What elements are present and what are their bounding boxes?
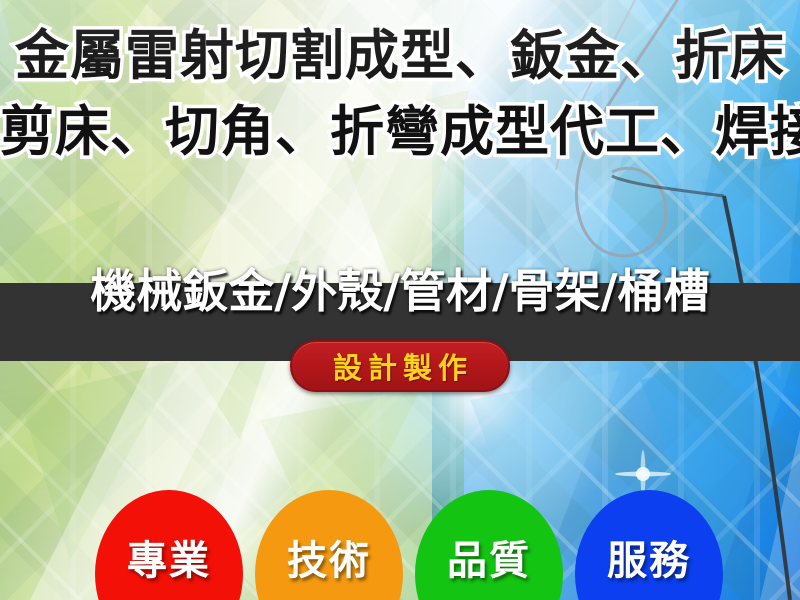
- feature-label-4: 服務: [607, 528, 691, 586]
- badge-label: 設計製作: [327, 345, 473, 387]
- headline-line-2: 剪床、切角、折彎成型代工、焊接: [0, 94, 800, 170]
- promo-banner: 金屬雷射切割成型、鈑金、折床 剪床、切角、折彎成型代工、焊接 機械鈑金/外殼/管…: [0, 0, 800, 600]
- feature-label-3: 品質: [447, 528, 531, 586]
- feature-circle-1[interactable]: 專業: [95, 490, 243, 600]
- design-manufacture-badge[interactable]: 設計製作: [290, 340, 510, 392]
- feature-circle-3[interactable]: 品質: [415, 490, 563, 600]
- feature-circle-4[interactable]: 服務: [575, 490, 723, 600]
- feature-circle-2[interactable]: 技術: [255, 490, 403, 600]
- headline-block: 金屬雷射切割成型、鈑金、折床 剪床、切角、折彎成型代工、焊接: [0, 18, 800, 170]
- feature-label-1: 專業: [127, 528, 211, 586]
- band-text: 機械鈑金/外殼/管材/骨架/桶槽: [0, 262, 800, 320]
- feature-circles: 專業 技術 品質 服務: [0, 470, 800, 600]
- headline-line-1: 金屬雷射切割成型、鈑金、折床: [0, 18, 800, 94]
- feature-label-2: 技術: [287, 528, 371, 586]
